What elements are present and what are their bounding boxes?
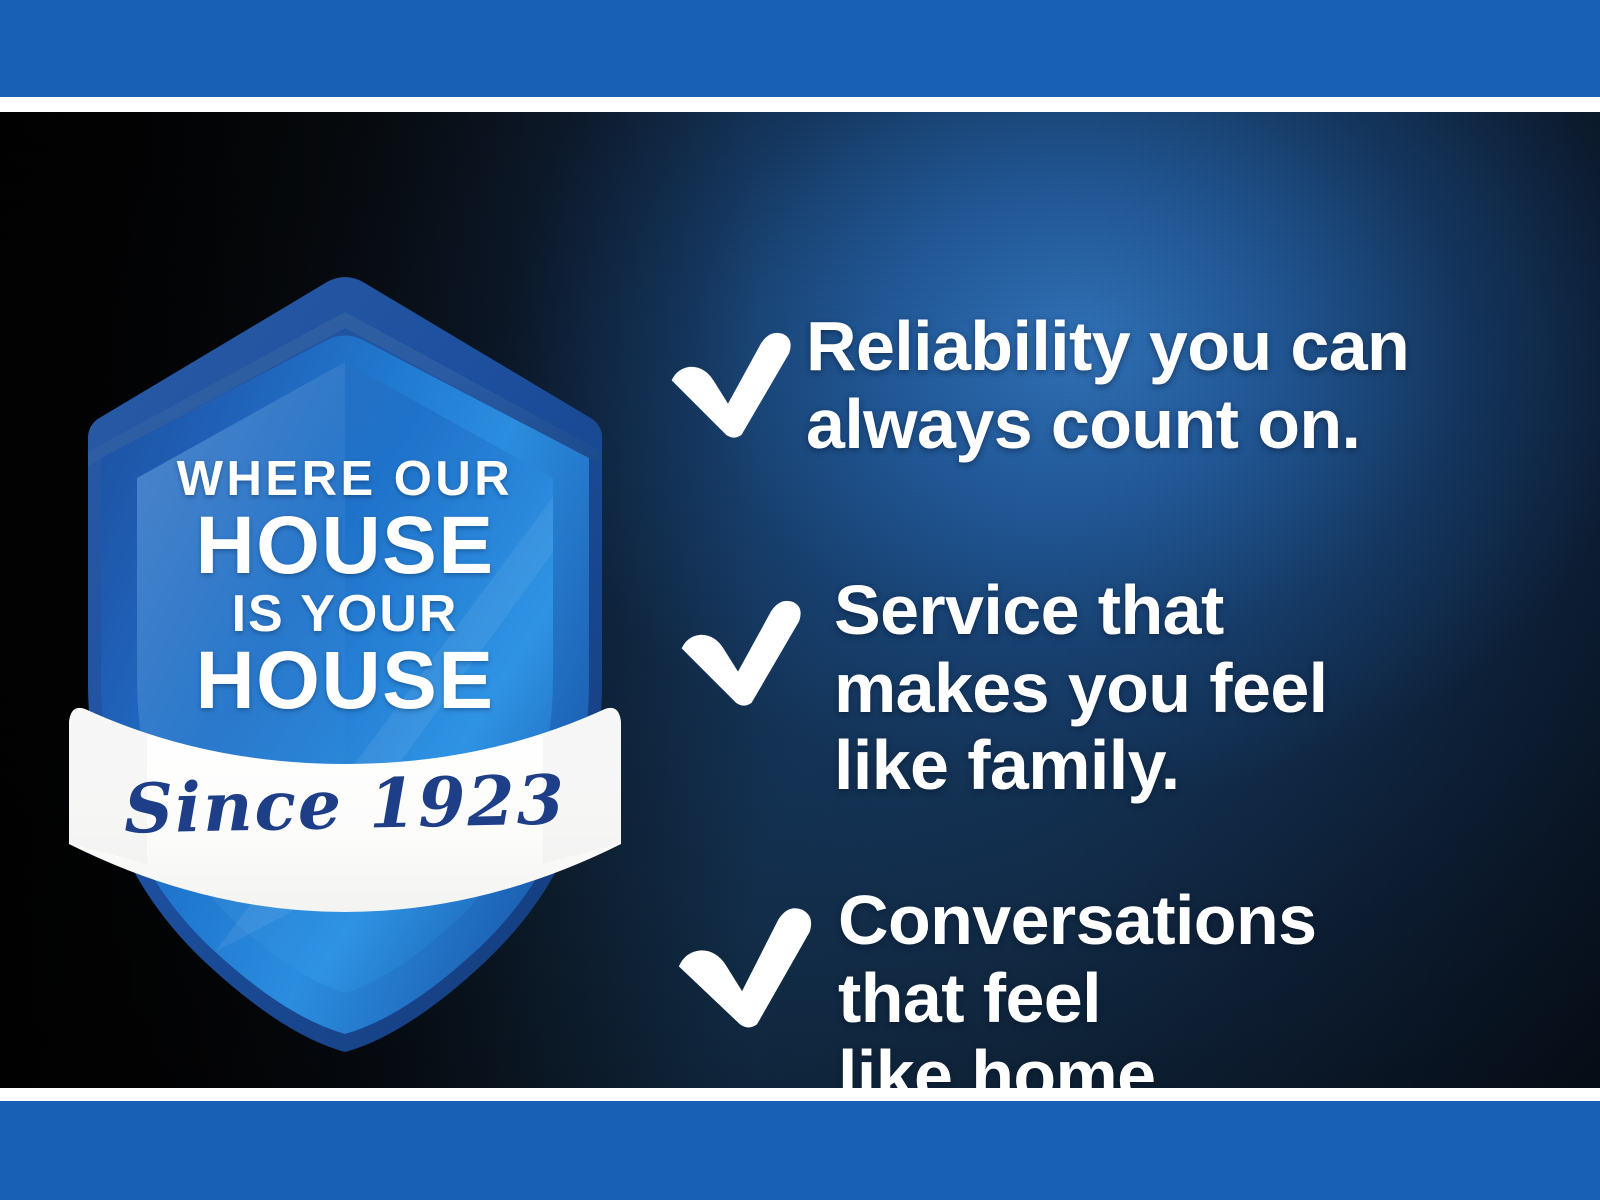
list-item: Service that makes you feel like family. <box>670 572 1328 805</box>
list-item-label: Service that makes you feel like family. <box>834 572 1328 805</box>
list-item: Conversations that feel like home. <box>666 882 1316 1088</box>
check-icon <box>660 324 796 441</box>
promo-graphic-canvas: WHERE OUR HOUSE IS YOUR HOUSE Sinc <box>0 0 1600 1200</box>
ribbon-since-text: Since 1923 <box>84 760 606 851</box>
ribbon-banner <box>55 252 635 1062</box>
check-icon <box>670 592 806 709</box>
check-icon <box>666 900 816 1029</box>
shield-logo: WHERE OUR HOUSE IS YOUR HOUSE Sinc <box>55 252 635 1062</box>
list-item: Reliability you can always count on. <box>660 308 1409 463</box>
bottom-brand-bar <box>0 1101 1600 1200</box>
main-stage: WHERE OUR HOUSE IS YOUR HOUSE Sinc <box>0 112 1600 1088</box>
list-item-label: Conversations that feel like home. <box>838 882 1316 1088</box>
list-item-label: Reliability you can always count on. <box>806 308 1409 463</box>
top-brand-bar <box>0 0 1600 97</box>
